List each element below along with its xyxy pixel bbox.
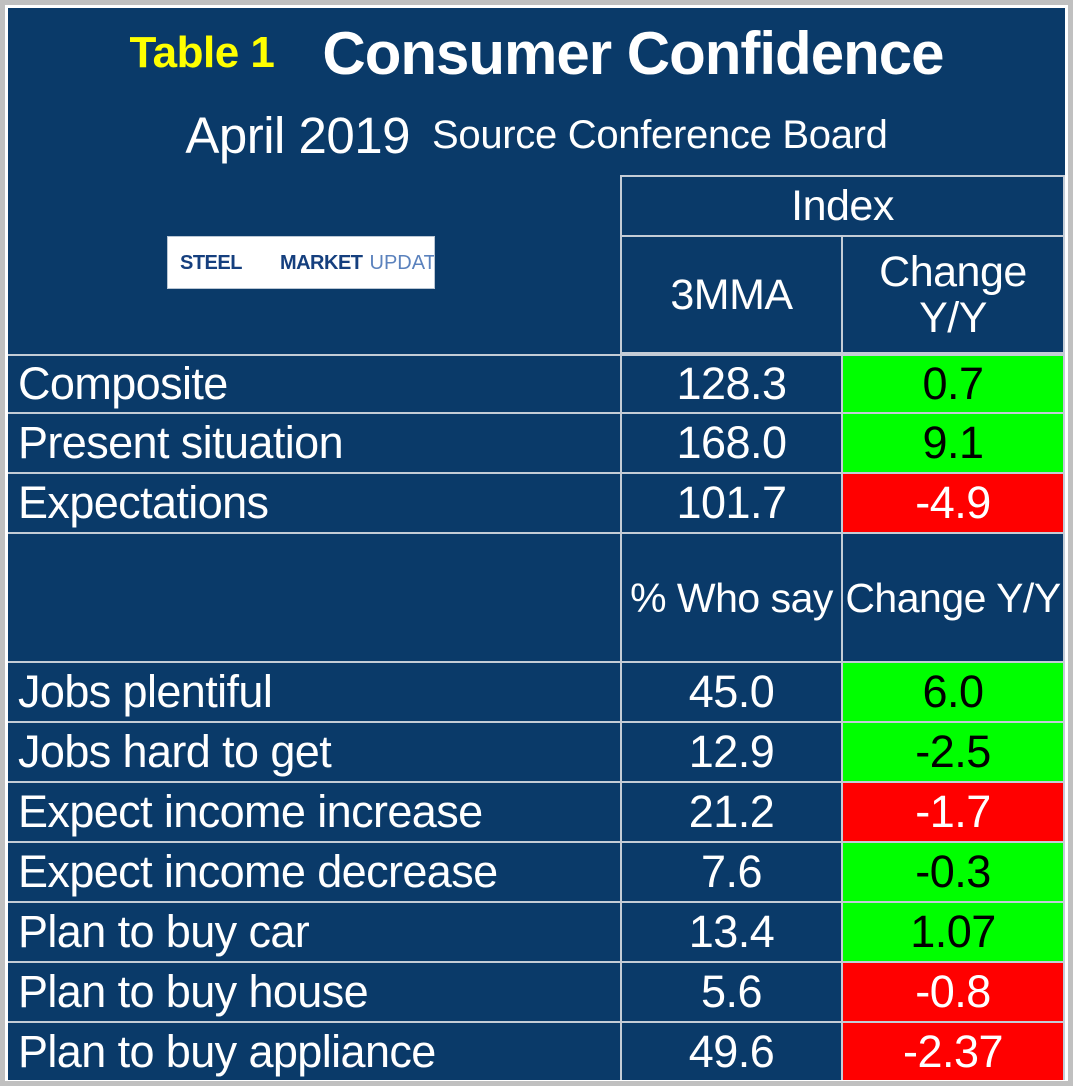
table-cell-value: 12.9 — [620, 723, 843, 783]
table-card: Table 1 Consumer Confidence April 2019 S… — [8, 8, 1065, 1080]
table-cell-value: 49.6 — [620, 1023, 843, 1080]
table-row-label: Expect income decrease — [8, 843, 620, 903]
table-cell-value: 101.7 — [620, 474, 843, 534]
table-row-label: Plan to buy house — [8, 963, 620, 1023]
table-cell-value: 168.0 — [620, 414, 843, 474]
table-cell-change: 1.07 — [843, 903, 1065, 963]
table-cell-change: -4.9 — [843, 474, 1065, 534]
header-group-index: Index — [620, 175, 1065, 237]
table-cell-value: 7.6 — [620, 843, 843, 903]
table-cell-change: 6.0 — [843, 663, 1065, 723]
table-row-label: Plan to buy car — [8, 903, 620, 963]
table-cell-change: 9.1 — [843, 414, 1065, 474]
header-col-index-change: Change Y/Y — [843, 237, 1065, 354]
header-spacer-cell — [8, 534, 620, 663]
table-cell-change: -2.37 — [843, 1023, 1065, 1080]
table-row-label: Expect income increase — [8, 783, 620, 843]
table-cell-change: -0.3 — [843, 843, 1065, 903]
table-row-label: Present situation — [8, 414, 620, 474]
header-col-pct-who-say: % Who say — [620, 534, 843, 663]
table-cell-change: 0.7 — [843, 354, 1065, 414]
header-col-3mma: 3MMA — [620, 237, 843, 354]
table-row-label: Jobs hard to get — [8, 723, 620, 783]
table-row-label: Expectations — [8, 474, 620, 534]
table-cell-change: -0.8 — [843, 963, 1065, 1023]
table-row-label: Composite — [8, 354, 620, 414]
table-row-label: Jobs plentiful — [8, 663, 620, 723]
table-cell-change: -1.7 — [843, 783, 1065, 843]
table-row-label: Plan to buy appliance — [8, 1023, 620, 1080]
table-cell-value: 128.3 — [620, 354, 843, 414]
outer-frame: Table 1 Consumer Confidence April 2019 S… — [0, 0, 1073, 1086]
table-cell-value: 45.0 — [620, 663, 843, 723]
table-cell-change: -2.5 — [843, 723, 1065, 783]
header-col-pct-change: Change Y/Y — [843, 534, 1065, 663]
consumer-confidence-table: Index 3MMA Change Y/Y Composite 128.3 0.… — [8, 8, 1065, 1080]
table-cell-value: 21.2 — [620, 783, 843, 843]
table-cell-value: 5.6 — [620, 963, 843, 1023]
table-cell-value: 13.4 — [620, 903, 843, 963]
